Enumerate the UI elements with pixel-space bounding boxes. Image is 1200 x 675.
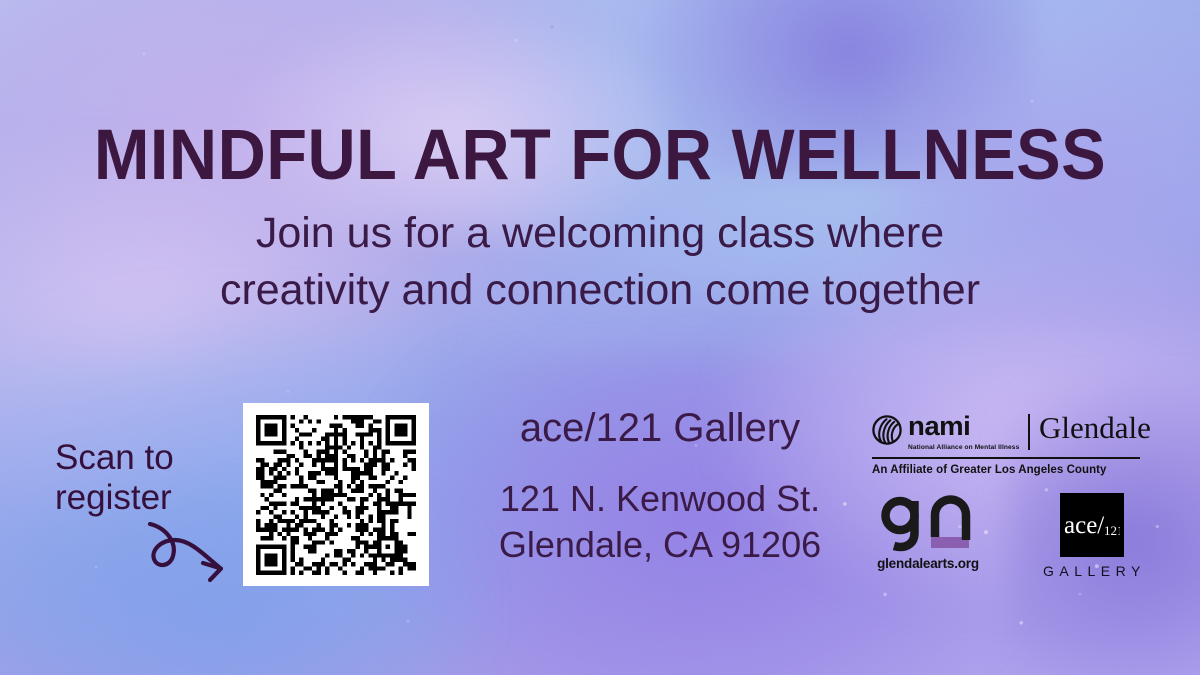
venue-address: 121 N. Kenwood St. Glendale, CA 91206 [470, 476, 850, 568]
nami-rule [872, 457, 1140, 459]
ace121-monogram: ace/ 121 [1064, 508, 1120, 542]
ace121-monogram-sub: 121 [1104, 523, 1120, 538]
logo-group: nami National Alliance on Mental Illness… [872, 414, 1140, 579]
curly-arrow-right-icon [133, 522, 243, 600]
nami-divider [1028, 414, 1030, 450]
nami-swirl-icon [872, 415, 904, 445]
scan-line-2: register [55, 478, 240, 518]
poster-canvas: MINDFUL ART FOR WELLNESS Join us for a w… [0, 0, 1200, 675]
ace121-gallery-label: GALLERY [1038, 563, 1146, 579]
scan-line-1: Scan to [55, 438, 240, 478]
nami-wordmark: nami [908, 414, 1022, 440]
scan-to-register-label: Scan to register [55, 438, 240, 518]
nami-affiliate-line: An Affiliate of Greater Los Angeles Coun… [872, 464, 1140, 476]
ace121-monogram-text: ace/ [1064, 512, 1104, 539]
qr-code[interactable] [256, 415, 416, 575]
poster-content: MINDFUL ART FOR WELLNESS Join us for a w… [0, 0, 1200, 675]
nami-chapter-name: Glendale [1039, 412, 1151, 443]
glendale-arts-logo[interactable]: glendalearts.org [872, 493, 984, 571]
glendale-arts-url[interactable]: glendalearts.org [872, 556, 984, 571]
subtitle: Join us for a welcoming class where crea… [125, 205, 1075, 319]
secondary-logo-row: glendalearts.org ace/ 121 GALLERY [872, 493, 1140, 579]
ga-monogram-icon [876, 493, 980, 553]
nami-tagline: National Alliance on Mental Illness [908, 444, 1019, 451]
venue-address-line-2: Glendale, CA 91206 [470, 522, 850, 568]
subtitle-line-2: creativity and connection come together [125, 262, 1075, 319]
scan-to-register-block: Scan to register [55, 438, 240, 518]
venue-info: ace/121 Gallery 121 N. Kenwood St. Glend… [470, 406, 850, 568]
nami-wordmark-block: nami National Alliance on Mental Illness [908, 414, 1019, 451]
nami-logo-row: nami National Alliance on Mental Illness… [872, 414, 1140, 451]
ace121-square-icon: ace/ 121 [1060, 493, 1124, 557]
subtitle-line-1: Join us for a welcoming class where [125, 205, 1075, 262]
page-title: MINDFUL ART FOR WELLNESS [36, 120, 1164, 191]
ace121-gallery-logo[interactable]: ace/ 121 GALLERY [1038, 493, 1146, 579]
venue-address-line-1: 121 N. Kenwood St. [470, 476, 850, 522]
nami-glendale-logo: nami National Alliance on Mental Illness… [872, 414, 1140, 472]
venue-name: ace/121 Gallery [470, 406, 850, 450]
qr-code-frame[interactable] [243, 403, 429, 586]
